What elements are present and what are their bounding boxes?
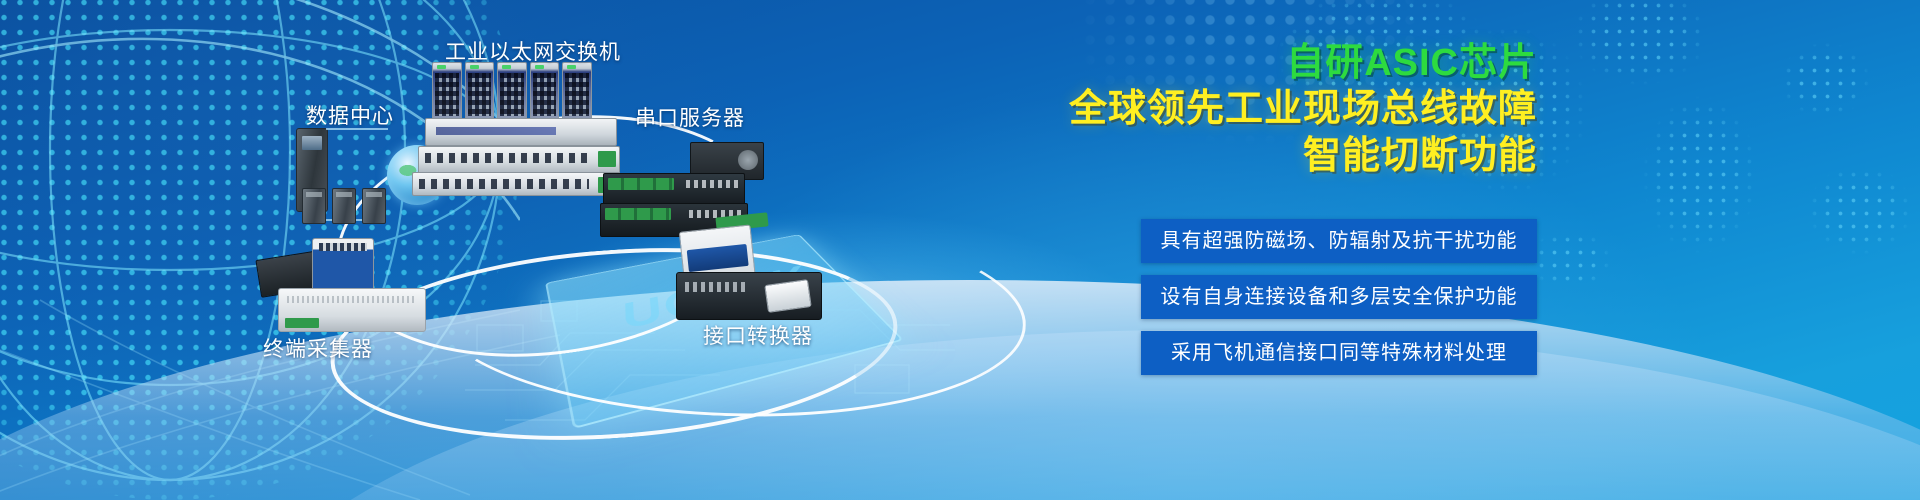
switch-module	[562, 62, 592, 120]
switch-module	[465, 62, 495, 120]
led-indicator-row	[686, 180, 738, 188]
switch-rack-unit-2	[418, 146, 620, 174]
promo-banner: UOTEK	[0, 0, 1920, 500]
server-rack-1	[302, 188, 326, 224]
label-terminal-collector: 终端采集器	[263, 333, 373, 363]
feature-bullet-1[interactable]: 具有超强防磁场、防辐射及抗干扰功能	[1141, 219, 1537, 263]
switch-rack-unit-3	[412, 172, 620, 196]
switch-module	[530, 62, 560, 120]
green-terminal-bar	[608, 178, 674, 190]
headline-line-2: 全球领先工业现场总线故障	[1069, 86, 1537, 132]
headline-line-1: 自研ASIC芯片	[1069, 40, 1537, 86]
switch-rack-unit-1	[425, 118, 617, 146]
feature-bullet-list: 具有超强防磁场、防辐射及抗干扰功能 设有自身连接设备和多层安全保护功能 采用飞机…	[1141, 219, 1537, 375]
label-data-center: 数据中心	[306, 100, 394, 130]
ethernet-port-row	[419, 179, 589, 189]
serial-server-unit-1	[603, 173, 745, 205]
terminal-collector-base-unit	[278, 288, 426, 332]
headline-block: 自研ASIC芯片 全球领先工业现场总线故障 智能切断功能	[1069, 40, 1537, 179]
feature-bullet-2[interactable]: 设有自身连接设备和多层安全保护功能	[1141, 275, 1537, 319]
switch-module	[432, 62, 462, 120]
label-interface-converter: 接口转换器	[703, 320, 813, 350]
switch-module	[497, 62, 527, 120]
green-terminal-bar	[605, 208, 671, 220]
label-industrial-ethernet-switch: 工业以太网交换机	[445, 36, 621, 66]
label-serial-server: 串口服务器	[635, 102, 745, 132]
headline-line-3: 智能切断功能	[1069, 133, 1537, 179]
server-rack-2	[332, 188, 356, 224]
product-illustration: UOTEK	[0, 0, 1920, 500]
switch-module-row	[432, 62, 592, 120]
server-rack-3	[362, 188, 386, 224]
terminal-block	[598, 151, 616, 167]
feature-bullet-3[interactable]: 采用飞机通信接口同等特殊材料处理	[1141, 331, 1537, 375]
ethernet-port-row	[425, 153, 589, 163]
